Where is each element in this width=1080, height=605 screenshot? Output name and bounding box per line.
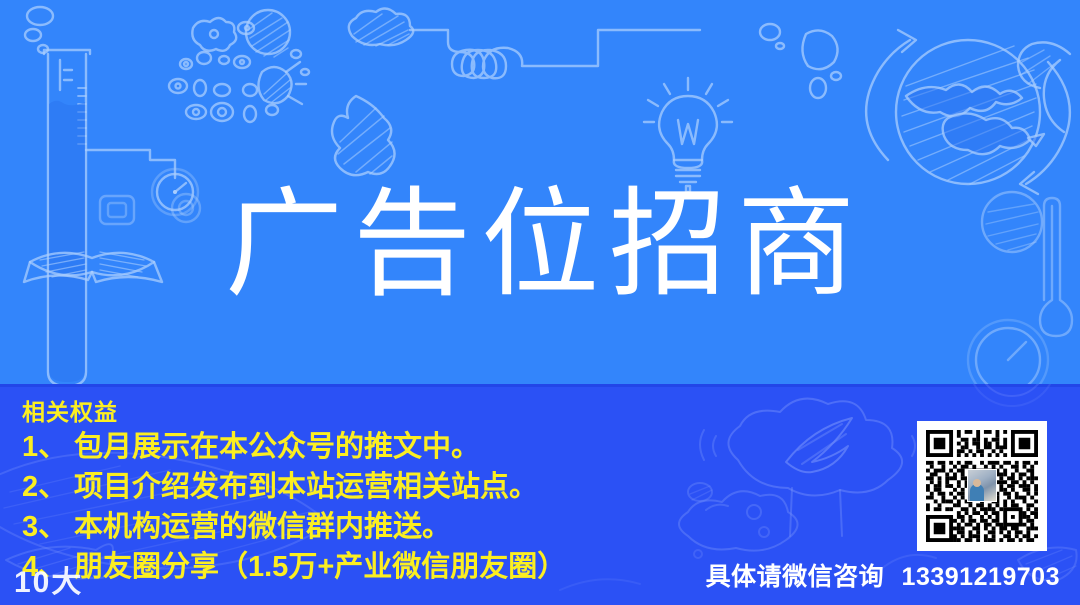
advertising-poster: 广告位招商 (0, 0, 1080, 605)
info-panel: 相关权益 1、 包月展示在本公众号的推文中。 2、 项目介绍发布到本站运营相关站… (0, 384, 1080, 605)
benefit-number: 3、 (22, 507, 74, 547)
wechat-qr-code[interactable] (917, 421, 1047, 551)
benefit-label: 本机构运营的微信群内推送。 (74, 507, 451, 547)
benefit-item: 4、 朋友圈分享（1.5万+产业微信朋友圈） (22, 547, 722, 587)
hero-title: 广告位招商 (0, 186, 1080, 304)
benefit-label: 包月展示在本公众号的推文中。 (74, 427, 480, 467)
benefit-label: 朋友圈分享（1.5万+产业微信朋友圈） (74, 547, 566, 587)
hero-panel: 广告位招商 (0, 0, 1080, 384)
benefit-item: 2、 项目介绍发布到本站运营相关站点。 (22, 467, 722, 507)
benefit-number: 1、 (22, 427, 74, 467)
benefit-item: 3、 本机构运营的微信群内推送。 (22, 507, 722, 547)
benefit-label: 项目介绍发布到本站运营相关站点。 (74, 467, 538, 507)
benefit-number: 2、 (22, 467, 74, 507)
qr-center-avatar (967, 469, 997, 502)
contact-line: 具体请微信咨询 13391219703 (706, 565, 1060, 590)
benefits-heading: 相关权益 (22, 397, 722, 427)
benefit-item: 1、 包月展示在本公众号的推文中。 (22, 427, 722, 467)
contact-phone-number[interactable]: 13391219703 (902, 563, 1060, 591)
benefits-block: 相关权益 1、 包月展示在本公众号的推文中。 2、 项目介绍发布到本站运营相关站… (22, 397, 722, 587)
benefit-number: 4、 (22, 547, 74, 587)
contact-prefix: 具体请微信咨询 (706, 563, 885, 591)
